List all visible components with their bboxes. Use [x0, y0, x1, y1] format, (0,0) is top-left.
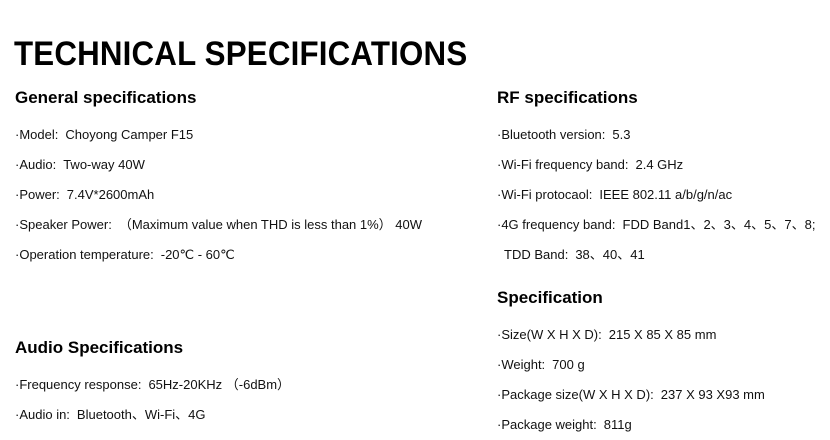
spec-list-general: ·Model:Choyong Camper F15·Audio:Two-way … [15, 120, 422, 270]
spec-row-label: TDD Band: [504, 247, 568, 262]
spec-row-label: ·Weight: [497, 357, 545, 372]
spec-row: ·Frequency response:65Hz-20KHz （-6dBm） [15, 370, 290, 400]
spec-row-value: 811g [604, 417, 632, 432]
spec-row: ·Model:Choyong Camper F15 [15, 120, 422, 150]
spec-row-value: 215 X 85 X 85 mm [609, 327, 717, 342]
spec-row-label: ·Frequency response: [15, 377, 141, 392]
spec-row: ·Audio:Two-way 40W [15, 150, 422, 180]
spec-row-label: ·Speaker Power: [15, 217, 112, 232]
spec-row: ·Size(W X H X D):215 X 85 X 85 mm [497, 320, 765, 350]
spec-row-value: 65Hz-20KHz （-6dBm） [148, 377, 290, 392]
spec-row-value: Choyong Camper F15 [65, 127, 193, 142]
section-general-specifications: General specifications ·Model:Choyong Ca… [15, 88, 422, 270]
spec-row-value: Two-way 40W [63, 157, 145, 172]
spec-row-value: 700 g [552, 357, 585, 372]
spec-row: ·4G frequency band:FDD Band1、2、3、4、5、7、8… [497, 210, 815, 240]
spec-sheet-page: TECHNICAL SPECIFICATIONS General specifi… [0, 0, 830, 439]
spec-row-value: 2.4 GHz [636, 157, 684, 172]
spec-row-value: 7.4V*2600mAh [67, 187, 154, 202]
spec-row-label: ·Package weight: [497, 417, 597, 432]
spec-row: ·Audio in:Bluetooth、Wi-Fi、4G [15, 400, 290, 430]
spec-row: ·Power:7.4V*2600mAh [15, 180, 422, 210]
spec-row-value: FDD Band1、2、3、4、5、7、8; [623, 217, 816, 232]
spec-row-value: （Maximum value when THD is less than 1%）… [119, 217, 422, 232]
spec-row-label: ·Operation temperature: [15, 247, 154, 262]
spec-row: ·Speaker Power:（Maximum value when THD i… [15, 210, 422, 240]
spec-row-label: ·Package size(W X H X D): [497, 387, 654, 402]
spec-row-label: ·Model: [15, 127, 58, 142]
spec-row-value: IEEE 802.11 a/b/g/n/ac [599, 187, 732, 202]
spec-row: ·Bluetooth version:5.3 [497, 120, 815, 150]
spec-row: ·Wi-Fi protocaol:IEEE 802.11 a/b/g/n/ac [497, 180, 815, 210]
spec-row: ·Operation temperature:-20℃ - 60℃ [15, 240, 422, 270]
section-heading-rf: RF specifications [497, 88, 815, 108]
spec-row-label: ·Wi-Fi protocaol: [497, 187, 592, 202]
spec-list-audio: ·Frequency response:65Hz-20KHz （-6dBm）·A… [15, 370, 290, 430]
spec-row-label: ·Wi-Fi frequency band: [497, 157, 629, 172]
section-rf-specifications: RF specifications ·Bluetooth version:5.3… [497, 88, 815, 270]
section-heading-audio: Audio Specifications [15, 338, 290, 358]
spec-row: TDD Band:38、40、41 [497, 240, 815, 270]
spec-row-value: 5.3 [612, 127, 630, 142]
section-heading-general: General specifications [15, 88, 422, 108]
page-title: TECHNICAL SPECIFICATIONS [14, 34, 467, 74]
spec-row-label: ·Bluetooth version: [497, 127, 605, 142]
spec-row-label: ·Size(W X H X D): [497, 327, 602, 342]
section-audio-specifications: Audio Specifications ·Frequency response… [15, 338, 290, 430]
spec-row: ·Package weight:811g [497, 410, 765, 440]
spec-row-label: ·Power: [15, 187, 60, 202]
spec-row-label: ·Audio in: [15, 407, 70, 422]
spec-row-value: 38、40、41 [575, 247, 644, 262]
spec-list-specification: ·Size(W X H X D):215 X 85 X 85 mm·Weight… [497, 320, 765, 440]
spec-row-value: 237 X 93 X93 mm [661, 387, 765, 402]
section-specification: Specification ·Size(W X H X D):215 X 85 … [497, 288, 765, 440]
spec-row: ·Weight:700 g [497, 350, 765, 380]
spec-row-label: ·Audio: [15, 157, 56, 172]
spec-row-value: Bluetooth、Wi-Fi、4G [77, 407, 206, 422]
spec-list-rf: ·Bluetooth version:5.3·Wi-Fi frequency b… [497, 120, 815, 270]
spec-row: ·Wi-Fi frequency band:2.4 GHz [497, 150, 815, 180]
spec-row: ·Package size(W X H X D):237 X 93 X93 mm [497, 380, 765, 410]
section-heading-specification: Specification [497, 288, 765, 308]
spec-row-value: -20℃ - 60℃ [161, 247, 235, 262]
spec-row-label: ·4G frequency band: [497, 217, 616, 232]
